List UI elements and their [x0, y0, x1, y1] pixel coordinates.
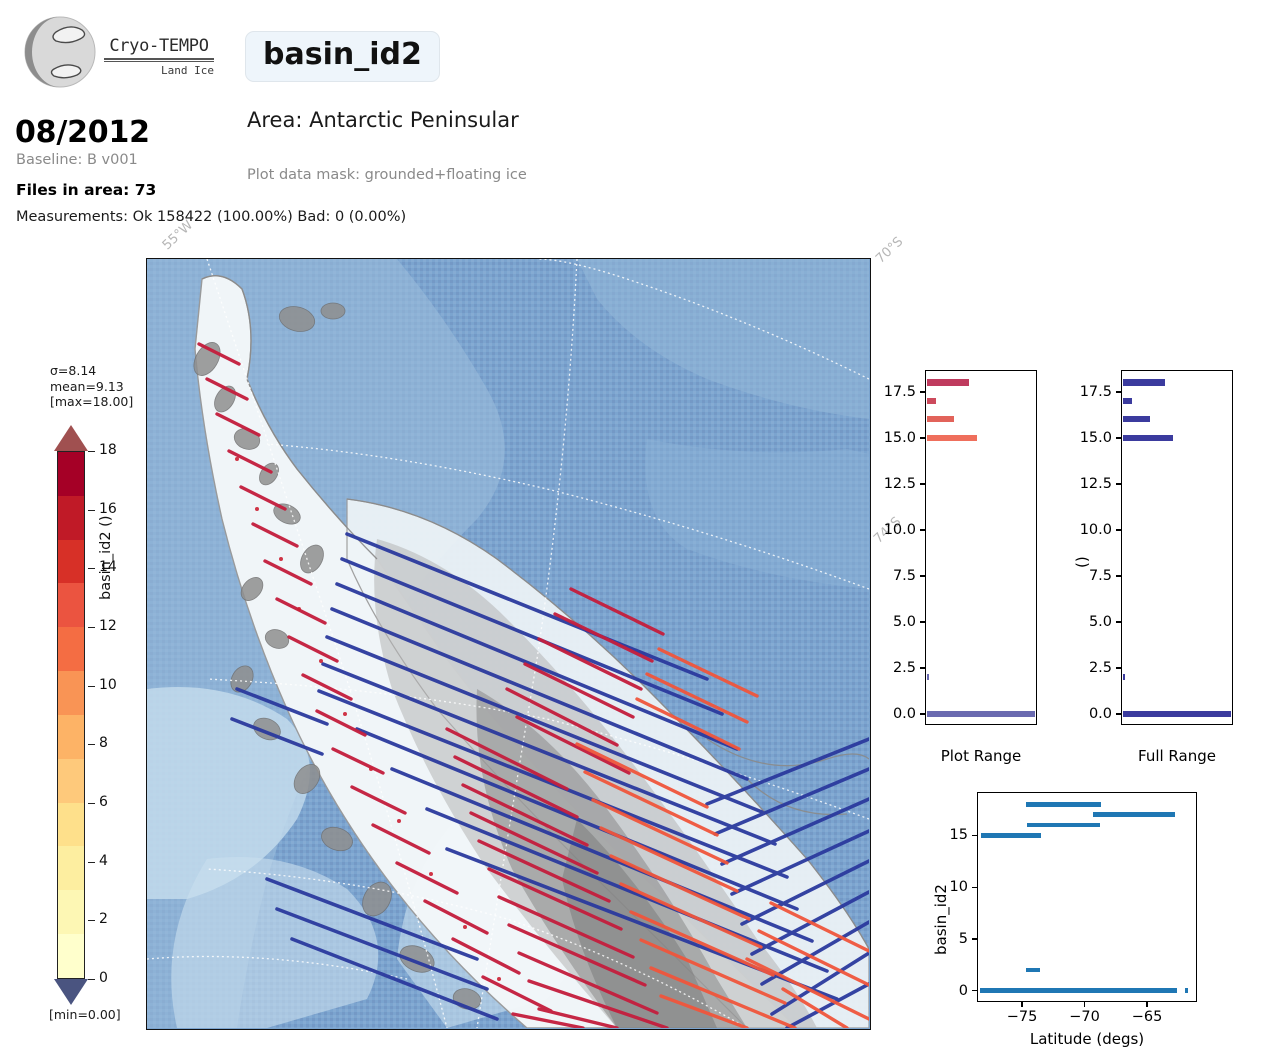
- files-count-label: Files in area: 73: [16, 181, 156, 199]
- colorbar-tick-label: 18: [99, 442, 117, 458]
- colorbar-band-9: [58, 846, 84, 890]
- colorbar-tick: [88, 451, 95, 452]
- logo-divider-thin: [104, 61, 214, 62]
- full-range-bar: [1123, 674, 1125, 680]
- full-range-ytick: [1116, 391, 1121, 392]
- scatter-xtick: [1021, 1002, 1022, 1007]
- scatter-segment: [1026, 802, 1101, 807]
- scatter-ytick: [972, 990, 977, 991]
- colorbar-gradient: [57, 451, 85, 979]
- logo-wordmark: Cryo-TEMPO Land Ice: [104, 36, 214, 77]
- plot-range-bar: [927, 379, 969, 385]
- full-range-ytick: [1116, 483, 1121, 484]
- full-range-ytick: [1116, 437, 1121, 438]
- colorbar-ticks: 024681012141618: [88, 425, 148, 1005]
- plot-range-ytick: [920, 391, 925, 392]
- colorbar-band-1: [58, 496, 84, 540]
- colorbar-min-label: [min=0.00]: [49, 1007, 121, 1022]
- plot-range-ytick-label: 12.5: [884, 476, 916, 492]
- logo-divider: [104, 58, 214, 60]
- colorbar-over-arrow: [54, 425, 88, 451]
- colorbar-band-0: [58, 452, 84, 496]
- plot-range-ytick-label: 2.5: [893, 660, 916, 676]
- scatter-xtick-label: −70: [1069, 1009, 1100, 1025]
- full-range-xlabel: Full Range: [1138, 747, 1216, 765]
- colorbar-band-6: [58, 715, 84, 759]
- area-title: Area: Antarctic Peninsular: [247, 108, 519, 132]
- colorbar-max: [max=18.00]: [50, 394, 133, 410]
- measurements-label: Measurements: Ok 158422 (100.00%) Bad: 0…: [16, 209, 406, 225]
- parameter-badge: basin_id2: [245, 31, 440, 82]
- plot-range-axes[interactable]: [925, 370, 1037, 725]
- colorbar-band-2: [58, 540, 84, 584]
- basin-latitude-ylabel: basin_id2: [932, 884, 950, 955]
- plot-range-ytick: [920, 621, 925, 622]
- full-range-ytick-label: 17.5: [1080, 384, 1112, 400]
- full-range-bar: [1123, 416, 1150, 422]
- full-range-bar: [1123, 711, 1231, 717]
- cryotempo-plot-page: Cryo-TEMPO Land Ice basin_id2 08/2012 Ba…: [0, 0, 1272, 1060]
- colorbar-tick-label: 6: [99, 794, 108, 810]
- plot-range-ytick-label: 0.0: [893, 706, 916, 722]
- plot-range-ytick: [920, 575, 925, 576]
- plot-range-ytick: [920, 437, 925, 438]
- full-range-ytick-label: 10.0: [1080, 522, 1112, 538]
- scatter-ytick-label: 5: [959, 931, 968, 947]
- scatter-ytick-label: 0: [959, 983, 968, 999]
- colorbar-tick: [88, 510, 95, 511]
- plot-data-mask-label: Plot data mask: grounded+floating ice: [247, 167, 527, 183]
- colorbar-band-4: [58, 627, 84, 671]
- scatter-xtick: [1084, 1002, 1085, 1007]
- colorbar-tick-label: 16: [99, 501, 117, 517]
- colorbar-tick: [88, 862, 95, 863]
- scatter-ytick: [972, 835, 977, 836]
- plot-range-bar: [927, 711, 1035, 717]
- logo-subtitle: Land Ice: [104, 64, 214, 77]
- scatter-xtick-label: −65: [1132, 1009, 1163, 1025]
- plot-range-ytick-label: 10.0: [884, 522, 916, 538]
- baseline-label: Baseline: B v001: [16, 152, 138, 168]
- colorbar-tick-label: 4: [99, 853, 108, 869]
- colorbar-tick: [88, 803, 95, 804]
- full-range-ytick: [1116, 529, 1121, 530]
- map-graphic: [147, 259, 869, 1028]
- colorbar-tick: [88, 744, 95, 745]
- scatter-segment: [981, 833, 1041, 838]
- colorbar-tick-label: 0: [99, 970, 108, 986]
- plot-range-ytick-label: 17.5: [884, 384, 916, 400]
- colorbar-tick: [88, 568, 95, 569]
- full-range-ytick: [1116, 713, 1121, 714]
- plot-range-bar: [927, 398, 937, 404]
- colorbar-stats: σ=8.14 mean=9.13 [max=18.00]: [50, 363, 133, 410]
- colorbar-tick-label: 2: [99, 911, 108, 927]
- full-range-axes[interactable]: [1121, 370, 1233, 725]
- scatter-segment: [1027, 823, 1100, 828]
- scatter-ytick: [972, 938, 977, 939]
- colorbar-band-5: [58, 671, 84, 715]
- colorbar-under-arrow: [54, 979, 88, 1005]
- basin-latitude-xlabel: Latitude (degs): [1030, 1030, 1144, 1048]
- scatter-xtick-label: −75: [1007, 1009, 1038, 1025]
- colorbar-tick: [88, 686, 95, 687]
- scatter-ytick-label: 10: [950, 879, 968, 895]
- map-panel[interactable]: km 300: [146, 258, 871, 1030]
- plot-range-ytick: [920, 529, 925, 530]
- full-range-bar: [1123, 435, 1174, 441]
- scatter-segment: [1093, 812, 1174, 817]
- full-range-ytick: [1116, 667, 1121, 668]
- plot-range-ytick: [920, 483, 925, 484]
- full-range-bar: [1123, 379, 1165, 385]
- colorbar-tick: [88, 920, 95, 921]
- colorbar-tick: [88, 979, 95, 980]
- full-range-ytick-label: 2.5: [1089, 660, 1112, 676]
- colorbar-axis-label: basin_id2 (): [98, 516, 114, 601]
- colorbar-tick: [88, 627, 95, 628]
- full-range-ytick-label: 7.5: [1089, 568, 1112, 584]
- logo-title: Cryo-TEMPO: [104, 36, 214, 56]
- plot-range-ytick-label: 7.5: [893, 568, 916, 584]
- full-range-ytick-label: 12.5: [1080, 476, 1112, 492]
- cryo-tempo-logo: [16, 14, 104, 90]
- full-range-ytick-label: 15.0: [1080, 430, 1112, 446]
- full-range-ytick-label: 5.0: [1089, 614, 1112, 630]
- date-label: 08/2012: [15, 115, 150, 150]
- colorbar-sigma: σ=8.14: [50, 363, 133, 379]
- full-range-bar: [1123, 398, 1133, 404]
- colorbar-tick-label: 12: [99, 618, 117, 634]
- plot-range-ytick: [920, 667, 925, 668]
- plot-range-ytick: [920, 713, 925, 714]
- plot-range-bar: [927, 435, 978, 441]
- colorbar-band-3: [58, 583, 84, 627]
- plot-range-bar: [927, 674, 929, 680]
- full-range-ytick-label: 0.0: [1089, 706, 1112, 722]
- scatter-segment: [1026, 968, 1040, 973]
- scatter-ytick: [972, 887, 977, 888]
- colorbar-band-8: [58, 803, 84, 847]
- full-range-ytick: [1116, 621, 1121, 622]
- colorbar-tick-label: 10: [99, 677, 117, 693]
- graticule-label-70s: 70°S: [873, 234, 906, 266]
- colorbar-band-10: [58, 890, 84, 934]
- full-range-ylabel: (): [1073, 556, 1091, 568]
- scatter-segment: [980, 988, 1178, 993]
- colorbar: [54, 425, 88, 1005]
- plot-range-ytick-label: 5.0: [893, 614, 916, 630]
- colorbar-mean: mean=9.13: [50, 379, 133, 395]
- colorbar-band-7: [58, 759, 84, 803]
- colorbar-tick-label: 8: [99, 735, 108, 751]
- full-range-ytick: [1116, 575, 1121, 576]
- plot-range-xlabel: Plot Range: [941, 747, 1022, 765]
- scatter-segment: [1185, 988, 1189, 993]
- colorbar-band-11: [58, 934, 84, 978]
- plot-range-ytick-label: 15.0: [884, 430, 916, 446]
- scatter-xtick: [1146, 1002, 1147, 1007]
- scatter-ytick-label: 15: [950, 827, 968, 843]
- plot-range-bar: [927, 416, 954, 422]
